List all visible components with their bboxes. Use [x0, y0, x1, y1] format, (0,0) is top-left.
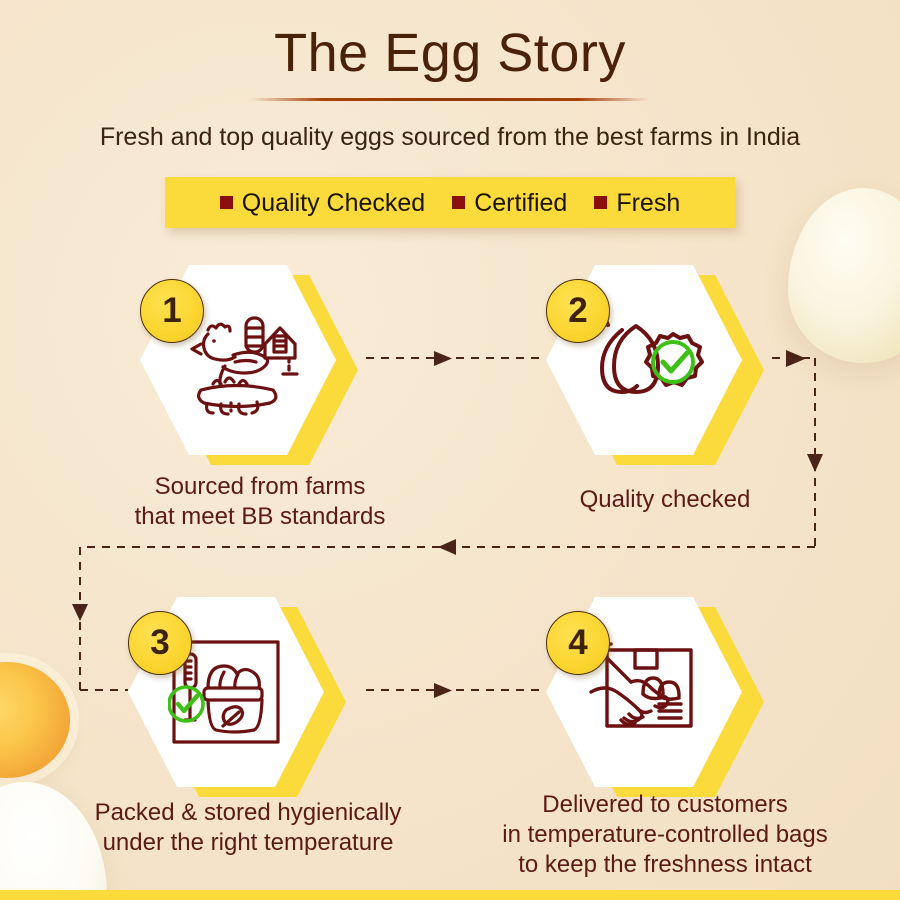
infographic-canvas: The Egg Story Fresh and top quality eggs…: [0, 0, 900, 900]
caption-line: to keep the freshness intact: [455, 850, 875, 880]
step-1-number-badge: 1: [140, 279, 204, 343]
caption-line: Quality checked: [455, 485, 875, 515]
arrowhead-step3-to-step4: [434, 683, 452, 698]
step-3-caption: Packed & stored hygienically under the r…: [38, 798, 458, 858]
step-3[interactable]: 3: [128, 597, 368, 807]
arrowhead-step2-right: [786, 350, 806, 367]
step-4-number-badge: 4: [546, 611, 610, 675]
arrowhead-return-left: [438, 539, 456, 555]
arrowhead-step1-to-step2: [434, 351, 452, 366]
caption-line: Delivered to customers: [455, 790, 875, 820]
step-4[interactable]: 4: [546, 597, 786, 807]
step-2[interactable]: 2: [546, 265, 786, 475]
caption-line: in temperature-controlled bags: [455, 820, 875, 850]
bottom-accent-strip: [0, 890, 900, 900]
step-4-caption: Delivered to customers in temperature-co…: [455, 790, 875, 880]
step-2-number-badge: 2: [546, 279, 610, 343]
caption-line: that meet BB standards: [50, 502, 470, 532]
step-3-number-badge: 3: [128, 611, 192, 675]
caption-line: Sourced from farms: [50, 472, 470, 502]
caption-line: under the right temperature: [38, 828, 458, 858]
arrowhead-right-down: [807, 454, 823, 472]
step-2-caption: Quality checked: [455, 485, 875, 515]
caption-line: Packed & stored hygienically: [38, 798, 458, 828]
arrowhead-left-down: [72, 604, 88, 621]
step-1-caption: Sourced from farms that meet BB standard…: [50, 472, 470, 532]
step-1[interactable]: 1: [140, 265, 380, 475]
